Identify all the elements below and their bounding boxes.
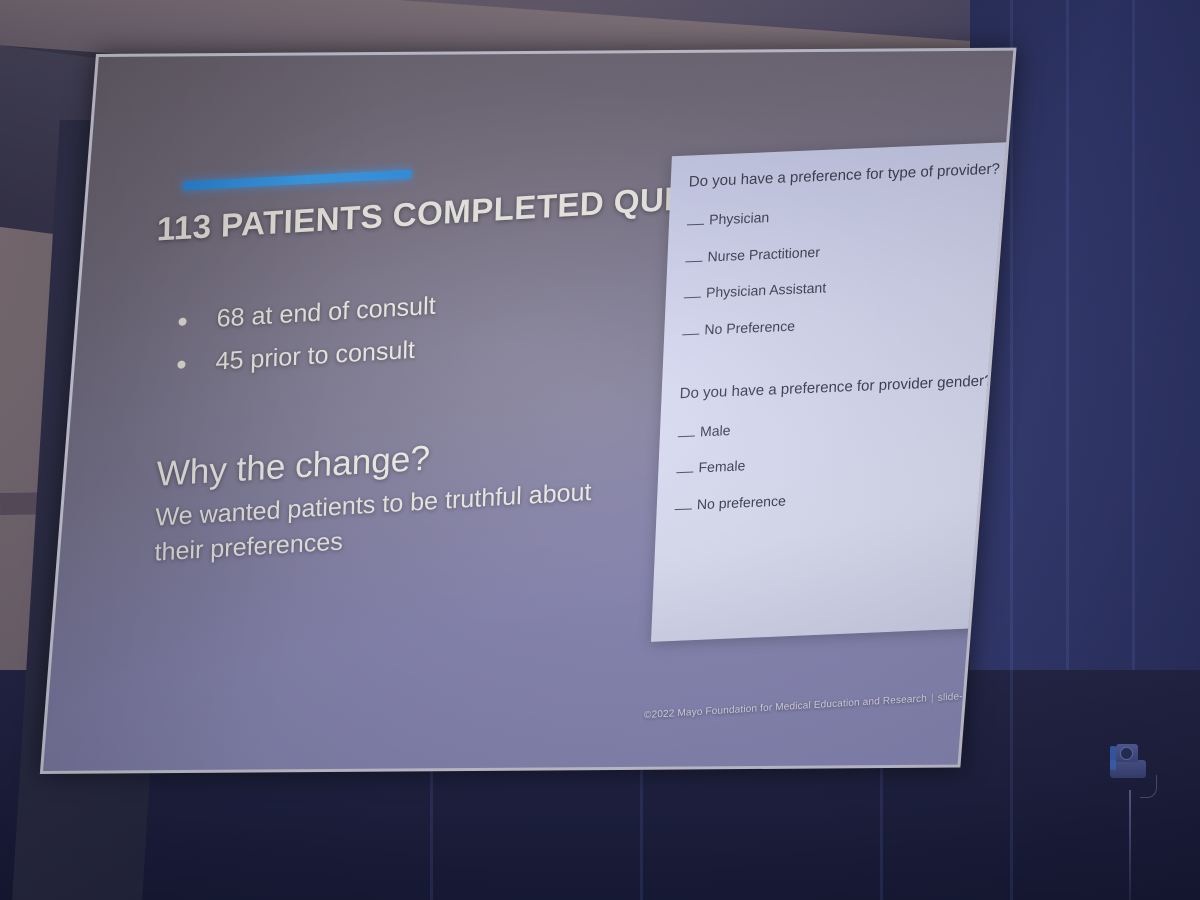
option-row: Nurse Practitioner	[685, 236, 997, 266]
questionnaire-panel: Do you have a preference for type of pro…	[651, 142, 1013, 642]
option-label: Nurse Practitioner	[707, 243, 820, 264]
answer-blank-line	[687, 212, 705, 225]
bullet-list: 68 at end of consult 45 prior to consult	[169, 276, 693, 393]
option-label: No preference	[697, 493, 787, 513]
answer-blank-line	[676, 461, 694, 474]
answer-blank-line	[675, 498, 693, 511]
option-row: Physician Assistant	[684, 273, 996, 303]
question-text: Do you have a preference for type of pro…	[688, 160, 1000, 192]
footer-separator: |	[931, 693, 934, 704]
option-row: Male	[678, 411, 990, 441]
option-row: Female	[676, 448, 988, 478]
slide-footer: ©2022 Mayo Foundation for Medical Educat…	[644, 691, 969, 721]
why-change-heading: Why the change?	[156, 441, 430, 494]
option-row: No preference	[674, 484, 986, 514]
footer-copyright: ©2022 Mayo Foundation for Medical Educat…	[644, 693, 927, 721]
camera-cable	[1140, 775, 1157, 798]
curtain-fold	[1010, 670, 1013, 900]
camera-stand	[1129, 790, 1131, 900]
slide-content: 113 PATIENTS COMPLETED QUESTIONNAIRE 68 …	[73, 51, 1008, 771]
projection-screen: 113 PATIENTS COMPLETED QUESTIONNAIRE 68 …	[40, 48, 1017, 774]
conference-room-photo: 113 PATIENTS COMPLETED QUESTIONNAIRE 68 …	[0, 0, 1200, 900]
answer-blank-line	[684, 286, 702, 299]
presentation-slide: 113 PATIENTS COMPLETED QUESTIONNAIRE 68 …	[43, 51, 1013, 771]
option-list: Physician Nurse Practitioner Physician A…	[682, 199, 998, 339]
option-row: Physician	[687, 199, 999, 229]
answer-blank-line	[682, 323, 700, 336]
answer-blank-line	[685, 249, 703, 262]
camera-lens-icon	[1120, 747, 1133, 760]
option-label: Physician Assistant	[706, 280, 827, 302]
question-block-provider-gender: Do you have a preference for provider ge…	[674, 372, 990, 514]
option-list: Male Female No preference	[674, 411, 989, 514]
answer-blank-line	[678, 424, 696, 437]
option-label: Physician	[709, 209, 770, 228]
option-label: No Preference	[704, 318, 795, 339]
option-label: Male	[700, 422, 731, 440]
question-block-provider-type: Do you have a preference for type of pro…	[682, 160, 1000, 339]
option-row: No Preference	[682, 310, 994, 340]
option-label: Female	[698, 458, 746, 477]
